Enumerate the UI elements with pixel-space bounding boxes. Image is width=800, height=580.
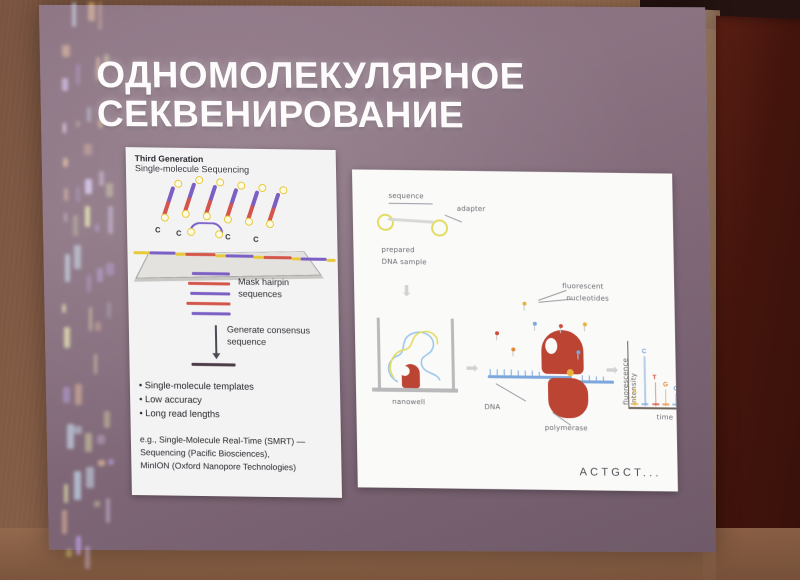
dna-sample-label: DNA sample xyxy=(382,258,427,267)
fluorescence-trace: ACTGCTA xyxy=(352,169,672,173)
base-tooth xyxy=(497,369,499,375)
masked-fragment xyxy=(190,292,230,295)
base-tooth xyxy=(603,377,605,383)
hairpin-dot-icon xyxy=(187,228,195,236)
flow-arrow-right-icon: ➡ xyxy=(465,359,478,377)
adapter-label: adapter xyxy=(457,205,486,213)
base-tooth xyxy=(596,377,598,383)
read-segment xyxy=(292,257,301,260)
trace-baseline-mark xyxy=(652,403,659,405)
anchor-dot-icon xyxy=(203,212,211,220)
trace-baseline-mark xyxy=(662,403,669,405)
read-segment xyxy=(216,254,226,257)
projected-slide: ОДНОМОЛЕКУЛЯРНОЕ СЕКВЕНИРОВАНИЕ Third Ge… xyxy=(39,5,715,552)
read-segment xyxy=(175,253,185,256)
trace-peak xyxy=(644,356,646,406)
read-segment xyxy=(226,254,254,257)
trace-peak-label: T xyxy=(652,374,656,381)
sequence-label: sequence xyxy=(388,192,424,200)
example-line-0: e.g., Single-Molecule Real-Time (SMRT) — xyxy=(140,433,306,447)
bullet-2: • Long read lengths xyxy=(139,407,220,421)
read-segment xyxy=(254,256,264,259)
base-tooth xyxy=(589,375,591,381)
adapter-loop-icon xyxy=(377,214,394,231)
plate-letter-c: C xyxy=(253,235,259,244)
bullet-1: • Low accuracy xyxy=(139,393,202,407)
read-segment xyxy=(301,257,327,260)
wooden-door-panel xyxy=(716,16,800,580)
trace-peak-label: C xyxy=(673,386,678,393)
hairpin-dot-icon xyxy=(215,230,223,238)
prepared-label: prepared xyxy=(381,246,414,254)
fluorescent-label: fluorescent xyxy=(562,282,604,291)
trace-baseline-mark xyxy=(642,403,649,405)
anchor-dot-icon xyxy=(266,220,274,228)
flow-arrow-down-icon: ⬇ xyxy=(400,282,413,300)
polymerase-cleft xyxy=(545,338,557,354)
trace-baseline-mark xyxy=(631,403,638,405)
read-segment xyxy=(149,251,175,254)
incorporated-nucleotide xyxy=(567,369,574,376)
polymerase-label: polymerase xyxy=(545,424,588,433)
plate-letter-c: C xyxy=(155,225,161,234)
anchor-dot-icon xyxy=(182,210,190,218)
consensus-label-line-2: sequence xyxy=(227,336,266,348)
slide-title-line-2: СЕКВЕНИРОВАНИЕ xyxy=(97,94,698,135)
fluorophore-dot-icon xyxy=(195,176,203,184)
base-tooth xyxy=(582,375,584,381)
base-tooth xyxy=(504,369,506,375)
masked-fragment xyxy=(192,312,231,315)
slide-title-line-1: ОДНОМОЛЕКУЛЯРНОЕ xyxy=(96,55,697,96)
down-arrow-shaft xyxy=(215,325,217,355)
bullet-0: • Single-molecule templates xyxy=(139,379,254,394)
down-arrow-head-icon xyxy=(212,353,220,359)
masked-fragment xyxy=(188,282,230,285)
anchor-dot-icon xyxy=(224,215,232,223)
base-tooth xyxy=(532,371,534,377)
masked-fragment xyxy=(192,272,230,275)
base-tooth xyxy=(525,371,527,377)
sequence-readout: ACTGCT... xyxy=(580,466,662,479)
dna-label: DNA xyxy=(484,403,500,411)
trace-peak-label: A xyxy=(632,388,637,395)
anchor-dot-icon xyxy=(161,214,169,222)
mask-label-line-1: Mask hairpin xyxy=(238,277,289,289)
fluorophore-dot-icon xyxy=(216,178,224,186)
read-segment xyxy=(264,256,292,259)
slide-title: ОДНОМОЛЕКУЛЯРНОЕ СЕКВЕНИРОВАНИЕ xyxy=(96,55,698,136)
chart-xlabel: time xyxy=(657,413,674,421)
mask-label-line-2: sequences xyxy=(238,289,282,301)
fluorophore-dot-icon xyxy=(237,182,245,190)
nanowell-label: nanowell xyxy=(392,398,425,406)
base-tooth xyxy=(518,370,520,376)
left-figure-card: Third Generation Single-molecule Sequenc… xyxy=(126,147,342,498)
trace-baseline-mark xyxy=(673,404,678,406)
base-tooth xyxy=(539,372,541,378)
base-tooth xyxy=(511,369,513,375)
left-card-subheading: Single-molecule Sequencing xyxy=(135,163,249,175)
example-line-2: MinION (Oxford Nanopore Technologies) xyxy=(140,459,296,473)
fluorophore-dot-icon xyxy=(279,186,287,194)
right-figure-card: sequence adapter prepared DNA sample ⬇ n… xyxy=(352,169,678,491)
anchor-dot-icon xyxy=(245,218,253,226)
nucleotides-label: nucleotides xyxy=(566,294,609,303)
trace-peak-label: C xyxy=(642,348,647,355)
read-segment xyxy=(133,251,149,254)
flow-arrow-right-icon: ➡ xyxy=(606,361,619,379)
trace-peak-label: G xyxy=(663,381,668,388)
fluorophore-dot-icon xyxy=(258,184,266,192)
masked-fragment xyxy=(186,302,230,305)
example-line-1: Sequencing (Pacific Biosciences), xyxy=(140,446,270,460)
consensus-sequence-bar xyxy=(192,363,236,367)
base-tooth xyxy=(490,369,492,375)
read-segment xyxy=(185,253,215,256)
screenshot-stage: ОДНОМОЛЕКУЛЯРНОЕ СЕКВЕНИРОВАНИЕ Third Ge… xyxy=(0,0,800,580)
plate-letter-c: C xyxy=(225,232,231,241)
read-segment xyxy=(327,259,336,262)
dna-duplex-bar xyxy=(388,218,434,224)
chart-x-axis xyxy=(628,407,678,410)
fluorophore-dot-icon xyxy=(174,180,182,188)
plate-letter-c: C xyxy=(176,229,182,238)
polymerase-notch xyxy=(400,366,410,376)
consensus-label-line-1: Generate consensus xyxy=(227,324,310,336)
